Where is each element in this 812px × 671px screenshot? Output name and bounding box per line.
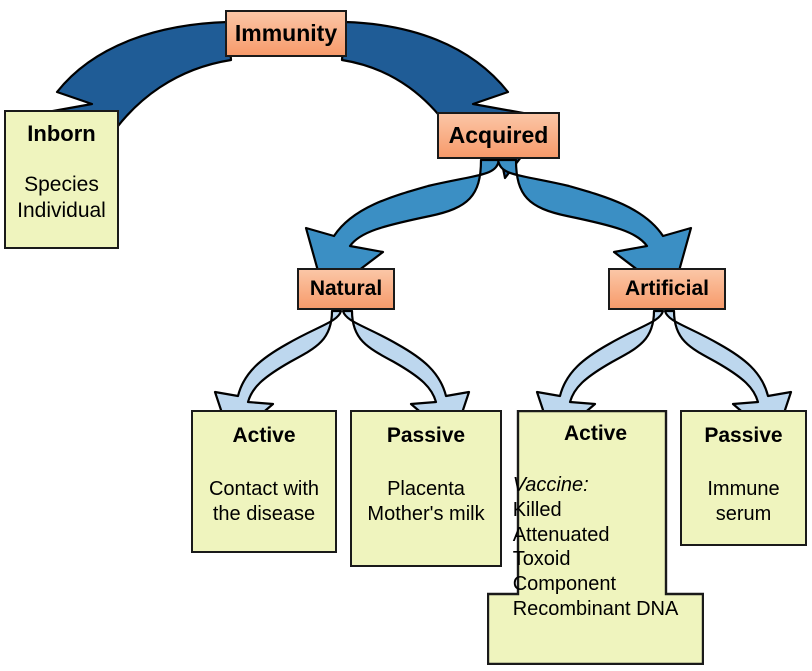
- node-artificial-passive-line1: Immune: [707, 477, 779, 502]
- node-inborn-line2: Individual: [17, 198, 106, 224]
- node-acquired-title: Acquired: [449, 123, 549, 148]
- node-artificial-active-vaccine-label: Vaccine:: [513, 473, 679, 498]
- node-natural-active[interactable]: Active Contact with the disease: [191, 410, 337, 553]
- node-natural-active-body: Contact with the disease: [209, 477, 319, 527]
- node-natural-passive-line2: Mother's milk: [367, 502, 484, 527]
- node-artificial-active-title: Active: [564, 422, 627, 445]
- node-artificial-title: Artificial: [625, 277, 709, 300]
- node-inborn-line1: Species: [17, 172, 106, 198]
- node-artificial-active-line2: Attenuated: [513, 523, 679, 548]
- node-artificial-active[interactable]: Active Vaccine: Killed Attenuated Toxoid…: [487, 410, 704, 665]
- node-natural[interactable]: Natural: [297, 268, 395, 310]
- node-natural-title: Natural: [310, 277, 382, 300]
- node-natural-active-title: Active: [232, 424, 295, 447]
- node-acquired[interactable]: Acquired: [437, 112, 560, 159]
- node-artificial-passive-line2: serum: [707, 502, 779, 527]
- node-natural-passive[interactable]: Passive Placenta Mother's milk: [350, 410, 502, 567]
- node-inborn[interactable]: Inborn Species Individual: [4, 110, 119, 249]
- node-immunity-title: Immunity: [235, 21, 337, 46]
- node-inborn-body: Species Individual: [17, 172, 106, 224]
- node-artificial[interactable]: Artificial: [608, 268, 726, 310]
- node-artificial-passive-title: Passive: [704, 424, 782, 447]
- node-artificial-active-line1: Killed: [513, 498, 679, 523]
- node-immunity[interactable]: Immunity: [225, 10, 347, 57]
- node-natural-active-line2: the disease: [209, 502, 319, 527]
- node-artificial-active-line4: Component: [513, 572, 679, 597]
- immunity-diagram: Immunity Inborn Species Individual Acqui…: [0, 0, 812, 671]
- node-artificial-active-line5: Recombinant DNA: [513, 597, 679, 622]
- node-natural-passive-line1: Placenta: [367, 477, 484, 502]
- node-artificial-active-line3: Toxoid: [513, 547, 679, 572]
- node-artificial-active-content: Active Vaccine: Killed Attenuated Toxoid…: [487, 410, 704, 665]
- node-artificial-active-body: Vaccine: Killed Attenuated Toxoid Compon…: [513, 473, 679, 622]
- node-artificial-passive-body: Immune serum: [707, 477, 779, 527]
- node-artificial-passive[interactable]: Passive Immune serum: [680, 410, 807, 546]
- node-inborn-title: Inborn: [27, 122, 95, 146]
- node-natural-passive-body: Placenta Mother's milk: [367, 477, 484, 527]
- node-natural-passive-title: Passive: [387, 424, 465, 447]
- node-natural-active-line1: Contact with: [209, 477, 319, 502]
